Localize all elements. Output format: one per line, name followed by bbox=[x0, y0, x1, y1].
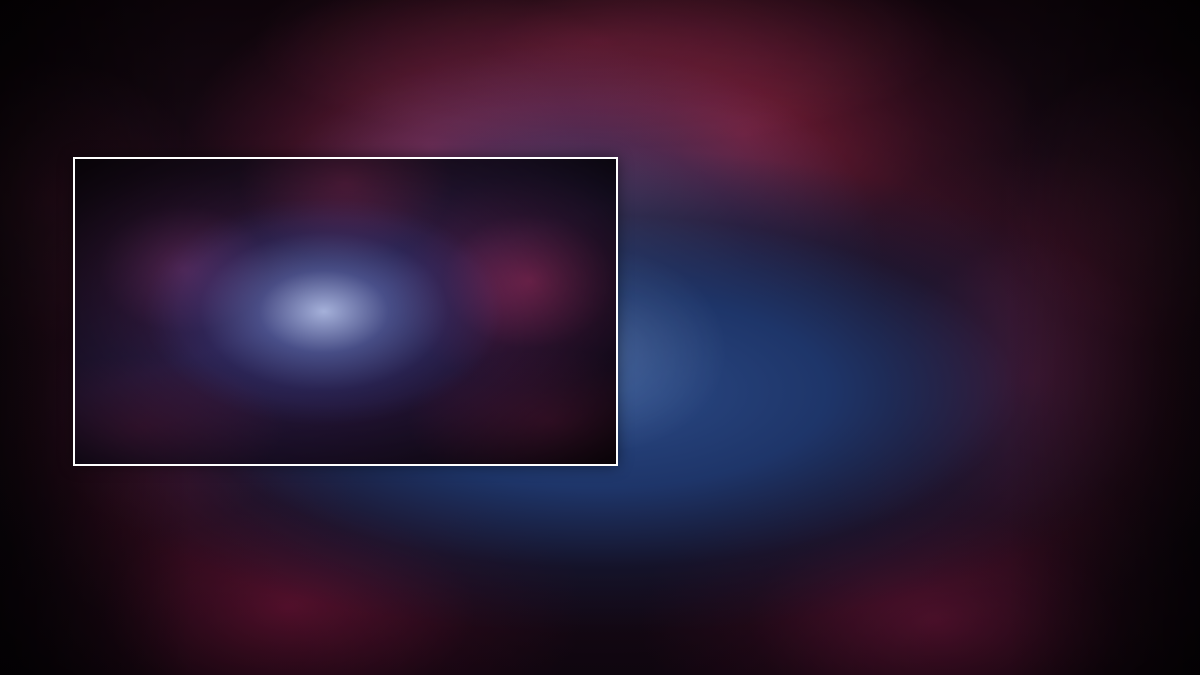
image-frame-vignette bbox=[75, 159, 616, 464]
presentation-slide bbox=[0, 0, 1200, 675]
image-frame bbox=[73, 157, 618, 466]
image-frame-content bbox=[75, 159, 616, 464]
